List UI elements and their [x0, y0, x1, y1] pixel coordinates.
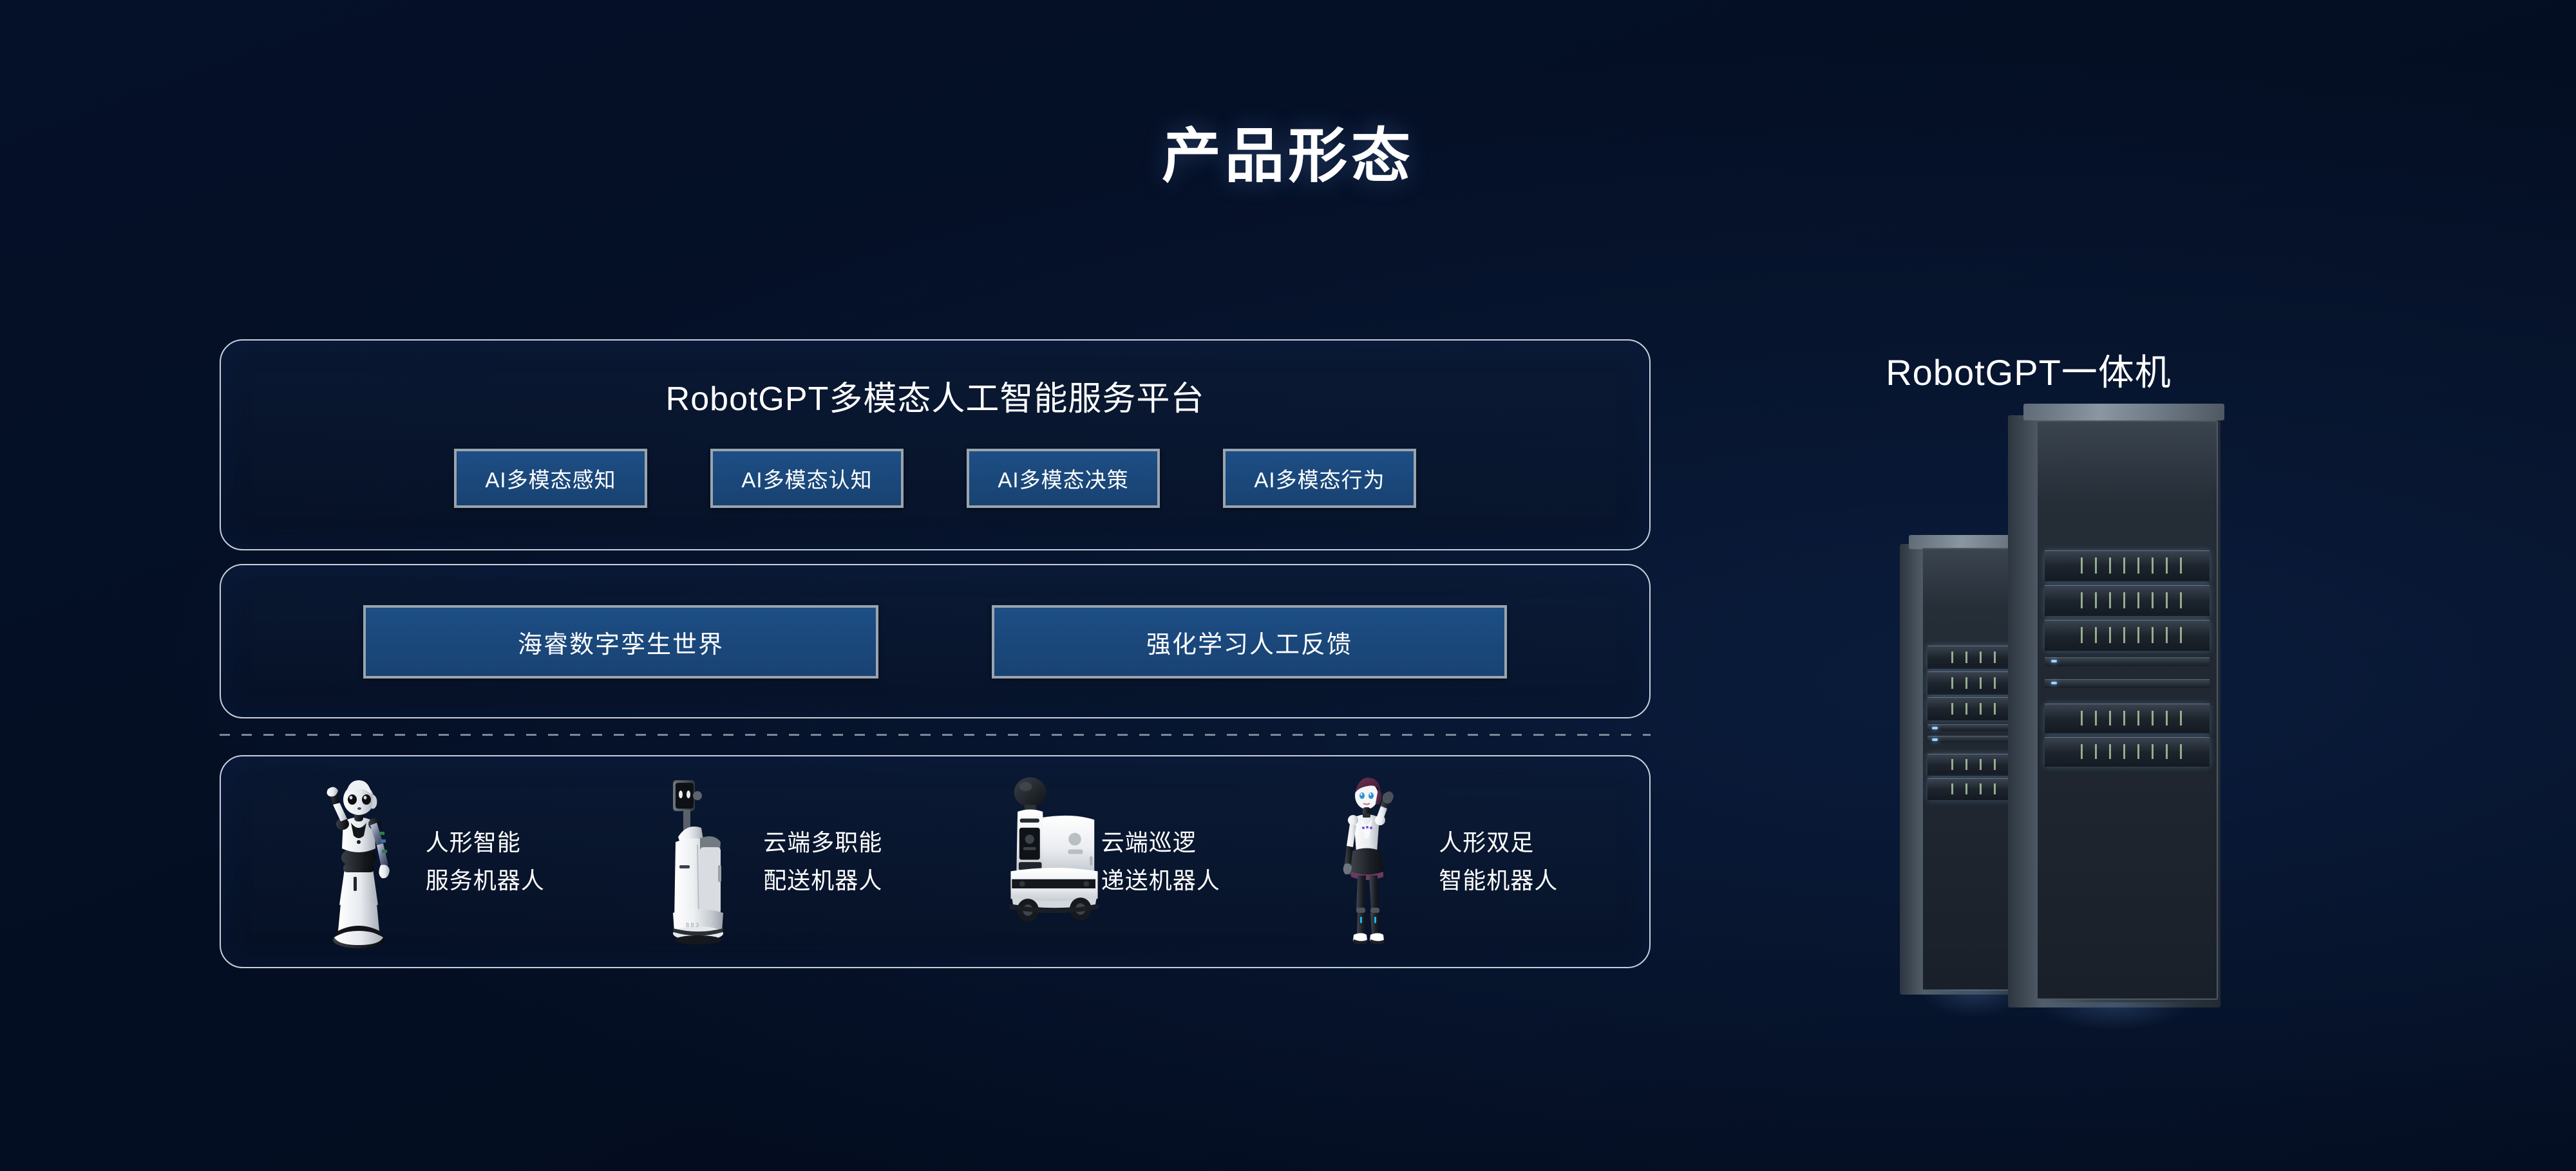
robot-item-biped-humanoid[interactable]: 人形双足 智能机器人 [1325, 775, 1558, 949]
robot-label-line2: 服务机器人 [426, 862, 545, 899]
engine-chip-row: 海睿数字孪生世界 强化学习人工反馈 [221, 605, 1649, 679]
robot-label-patrol-delivery: 云端巡逻 递送机器人 [1101, 824, 1220, 899]
robot-label-line2: 配送机器人 [763, 862, 882, 899]
robot-label-cloud-delivery: 云端多职能 配送机器人 [763, 824, 882, 899]
robot-item-humanoid-service[interactable]: 人形智能 服务机器人 [312, 775, 545, 949]
robot-item-patrol-delivery[interactable]: 云端巡逻 递送机器人 [988, 775, 1220, 949]
slide-canvas: 产品形态 RobotGPT多模态人工智能服务平台 AI多模态感知 AI多模态认知… [0, 0, 2576, 1171]
platform-chip-cognition[interactable]: AI多模态认知 [710, 449, 904, 508]
robots-row: 人形智能 服务机器人 [221, 756, 1649, 967]
svg-text:8 8 3: 8 8 3 [686, 922, 699, 928]
robot-label-line1: 人形智能 [426, 824, 545, 861]
cloud-delivery-robot-icon: 8 8 3 [650, 775, 746, 949]
robot-label-line1: 云端多职能 [763, 824, 882, 861]
platform-chip-perception[interactable]: AI多模态感知 [454, 449, 647, 508]
robots-panel: 人形智能 服务机器人 [220, 755, 1651, 968]
server-rack-pair-icon [1900, 415, 2254, 1027]
biped-humanoid-robot-icon [1325, 775, 1422, 949]
platform-panel: RobotGPT多模态人工智能服务平台 AI多模态感知 AI多模态认知 AI多模… [220, 339, 1651, 550]
robot-label-humanoid-service: 人形智能 服务机器人 [426, 824, 545, 899]
appliance-title: RobotGPT一体机 [1739, 344, 2318, 396]
patrol-delivery-robot-icon [988, 775, 1084, 949]
engine-panel: 海睿数字孪生世界 强化学习人工反馈 [220, 564, 1651, 718]
platform-chip-behavior[interactable]: AI多模态行为 [1223, 449, 1416, 508]
platform-chip-decision[interactable]: AI多模态决策 [967, 449, 1160, 508]
robot-label-line1: 云端巡逻 [1101, 824, 1220, 861]
server-cabinet-large [2008, 415, 2221, 1007]
platform-chip-row: AI多模态感知 AI多模态认知 AI多模态决策 AI多模态行为 [221, 449, 1649, 508]
robot-label-line2: 智能机器人 [1439, 862, 1558, 899]
robot-label-line2: 递送机器人 [1101, 862, 1220, 899]
engine-chip-digital-twin[interactable]: 海睿数字孪生世界 [363, 605, 878, 679]
robot-label-biped-humanoid: 人形双足 智能机器人 [1439, 824, 1558, 899]
page-title: 产品形态 [0, 108, 2576, 194]
engine-chip-rlhf[interactable]: 强化学习人工反馈 [992, 605, 1507, 679]
dashed-divider [220, 734, 1651, 736]
robot-item-cloud-delivery[interactable]: 8 8 3 云端多职能 配送机器人 [650, 775, 882, 949]
humanoid-service-robot-icon [312, 775, 409, 949]
platform-panel-title: RobotGPT多模态人工智能服务平台 [221, 371, 1649, 420]
robot-label-line1: 人形双足 [1439, 824, 1558, 861]
